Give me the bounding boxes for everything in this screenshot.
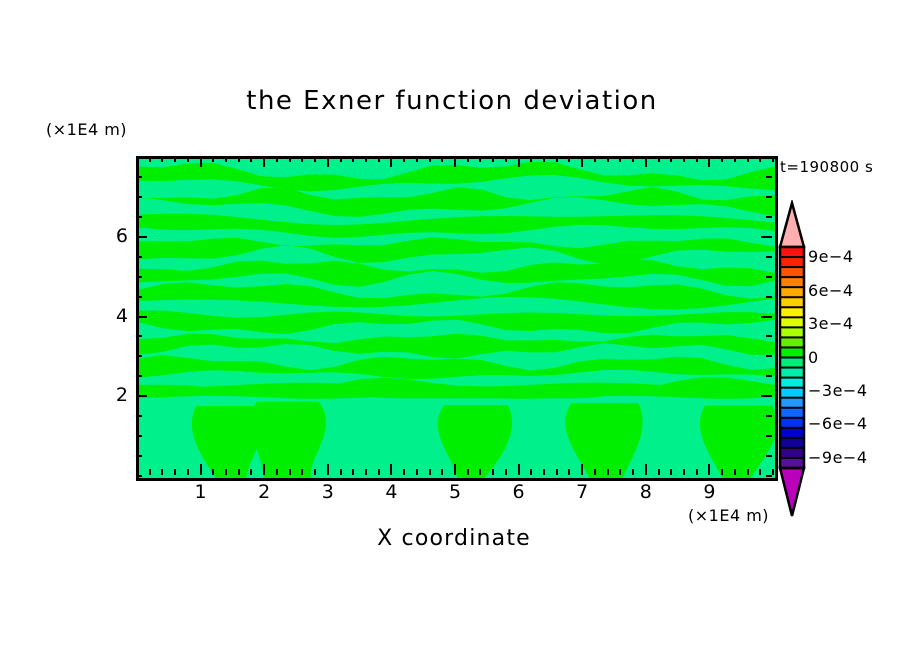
- x-minor-tick-top: [250, 156, 252, 162]
- x-minor-tick-top: [759, 156, 761, 162]
- colorbar-tick-label: −3e−4: [808, 381, 868, 400]
- x-minor-tick: [174, 469, 176, 475]
- y-minor-tick-right: [766, 156, 772, 158]
- x-minor-tick: [276, 469, 278, 475]
- x-minor-tick-top: [403, 156, 405, 162]
- x-minor-tick: [759, 469, 761, 475]
- x-minor-tick: [696, 469, 698, 475]
- y-minor-tick: [136, 296, 142, 298]
- x-minor-tick: [619, 469, 621, 475]
- x-minor-tick: [314, 469, 316, 475]
- x-minor-tick-top: [505, 156, 507, 162]
- x-minor-tick-top: [238, 156, 240, 162]
- x-minor-tick: [365, 469, 367, 475]
- x-minor-tick: [721, 469, 723, 475]
- y-minor-tick: [136, 355, 142, 357]
- x-minor-tick: [378, 469, 380, 475]
- x-minor-tick: [734, 469, 736, 475]
- x-major-tick: [454, 464, 456, 475]
- x-minor-tick-top: [212, 156, 214, 162]
- x-minor-tick: [238, 469, 240, 475]
- x-major-tick: [581, 464, 583, 475]
- x-minor-tick-top: [289, 156, 291, 162]
- x-minor-tick: [352, 469, 354, 475]
- colorbar-tick-label: 6e−4: [808, 281, 854, 300]
- y-minor-tick: [136, 156, 142, 158]
- y-minor-tick: [136, 256, 142, 258]
- x-minor-tick: [250, 469, 252, 475]
- x-major-tick: [390, 464, 392, 475]
- x-major-tick-top: [263, 156, 265, 167]
- x-minor-tick-top: [543, 156, 545, 162]
- x-minor-tick-top: [314, 156, 316, 162]
- colorbar-tick-label: −9e−4: [808, 448, 868, 467]
- x-major-tick-top: [645, 156, 647, 167]
- colorbar-tick-label: −6e−4: [808, 414, 868, 433]
- x-major-tick-top: [708, 156, 710, 167]
- x-minor-tick-top: [378, 156, 380, 162]
- x-minor-tick: [492, 469, 494, 475]
- x-minor-tick-top: [492, 156, 494, 162]
- x-minor-tick-top: [276, 156, 278, 162]
- page-title: the Exner function deviation: [0, 86, 904, 116]
- x-minor-tick-top: [683, 156, 685, 162]
- x-minor-tick-top: [670, 156, 672, 162]
- y-major-tick: [136, 316, 147, 318]
- x-axis-tick-label: 9: [694, 481, 724, 503]
- x-axis-tick-label: 7: [567, 481, 597, 503]
- y-axis-tick-label: 6: [102, 225, 128, 247]
- x-axis-tick-label: 5: [440, 481, 470, 503]
- x-major-tick: [263, 464, 265, 475]
- y-minor-tick: [136, 276, 142, 278]
- y-minor-tick: [136, 475, 142, 477]
- x-minor-tick: [568, 469, 570, 475]
- x-major-tick: [518, 464, 520, 475]
- x-minor-tick: [467, 469, 469, 475]
- x-major-tick-top: [327, 156, 329, 167]
- x-minor-tick: [441, 469, 443, 475]
- x-minor-tick: [556, 469, 558, 475]
- contour-field: [139, 159, 775, 478]
- y-minor-tick: [136, 335, 142, 337]
- y-minor-tick: [136, 435, 142, 437]
- x-minor-tick: [187, 469, 189, 475]
- x-minor-tick: [479, 469, 481, 475]
- x-minor-tick: [340, 469, 342, 475]
- x-axis-tick-label: 3: [313, 481, 343, 503]
- x-minor-tick-top: [301, 156, 303, 162]
- x-minor-tick-top: [161, 156, 163, 162]
- x-minor-tick: [416, 469, 418, 475]
- x-minor-tick-top: [619, 156, 621, 162]
- x-minor-tick: [747, 469, 749, 475]
- x-minor-tick: [658, 469, 660, 475]
- x-minor-tick: [505, 469, 507, 475]
- x-major-tick-top: [581, 156, 583, 167]
- y-minor-tick: [136, 176, 142, 178]
- z-axis-unit-label: (×1E4 m): [46, 120, 127, 139]
- x-axis-unit-label: (×1E4 m): [688, 506, 769, 525]
- x-minor-tick-top: [607, 156, 609, 162]
- x-minor-tick-top: [479, 156, 481, 162]
- colorbar-tick-label: 3e−4: [808, 314, 854, 333]
- y-axis-tick-label: 2: [102, 384, 128, 406]
- x-minor-tick-top: [340, 156, 342, 162]
- x-major-tick-top: [200, 156, 202, 167]
- x-minor-tick-top: [352, 156, 354, 162]
- x-minor-tick-top: [772, 156, 774, 162]
- x-minor-tick: [212, 469, 214, 475]
- x-minor-tick-top: [429, 156, 431, 162]
- x-minor-tick: [632, 469, 634, 475]
- x-minor-tick-top: [365, 156, 367, 162]
- x-minor-tick: [543, 469, 545, 475]
- x-minor-tick: [670, 469, 672, 475]
- x-minor-tick-top: [530, 156, 532, 162]
- x-minor-tick: [149, 469, 151, 475]
- x-major-tick: [645, 464, 647, 475]
- x-minor-tick: [161, 469, 163, 475]
- x-axis-tick-label: 6: [504, 481, 534, 503]
- x-minor-tick-top: [416, 156, 418, 162]
- x-minor-tick-top: [632, 156, 634, 162]
- x-minor-tick-top: [225, 156, 227, 162]
- x-minor-tick-top: [696, 156, 698, 162]
- x-major-tick: [708, 464, 710, 475]
- x-minor-tick: [683, 469, 685, 475]
- colorbar-tick-label: 0: [808, 348, 819, 367]
- x-major-tick-top: [518, 156, 520, 167]
- x-minor-tick-top: [174, 156, 176, 162]
- x-minor-tick-top: [441, 156, 443, 162]
- y-minor-tick: [136, 375, 142, 377]
- x-axis-title: X coordinate: [136, 526, 772, 551]
- y-minor-tick: [136, 415, 142, 417]
- x-minor-tick-top: [734, 156, 736, 162]
- x-minor-tick-top: [721, 156, 723, 162]
- y-minor-tick: [136, 196, 142, 198]
- y-minor-tick: [136, 216, 142, 218]
- x-minor-tick: [429, 469, 431, 475]
- contour-plot-area[interactable]: [136, 156, 778, 481]
- x-major-tick: [327, 464, 329, 475]
- x-minor-tick: [289, 469, 291, 475]
- x-minor-tick-top: [568, 156, 570, 162]
- y-minor-tick: [136, 455, 142, 457]
- x-minor-tick-top: [187, 156, 189, 162]
- x-axis-tick-label: 2: [249, 481, 279, 503]
- x-axis-tick-label: 8: [631, 481, 661, 503]
- x-minor-tick: [225, 469, 227, 475]
- y-axis-tick-label: 4: [102, 305, 128, 327]
- x-axis-tick-label: 4: [376, 481, 406, 503]
- x-minor-tick: [607, 469, 609, 475]
- y-major-tick: [136, 236, 147, 238]
- x-major-tick: [200, 464, 202, 475]
- x-major-tick-top: [390, 156, 392, 167]
- colorbar[interactable]: 9e−46e−43e−40−3e−4−6e−4−9e−4: [770, 200, 900, 520]
- x-minor-tick-top: [594, 156, 596, 162]
- time-annotation: t=190800 s: [780, 158, 873, 176]
- x-minor-tick: [530, 469, 532, 475]
- colorbar-tick-label: 9e−4: [808, 247, 854, 266]
- y-minor-tick-right: [766, 176, 772, 178]
- x-minor-tick: [594, 469, 596, 475]
- x-minor-tick: [403, 469, 405, 475]
- x-minor-tick-top: [556, 156, 558, 162]
- y-minor-tick-right: [766, 196, 772, 198]
- x-minor-tick-top: [149, 156, 151, 162]
- x-minor-tick: [301, 469, 303, 475]
- x-minor-tick-top: [658, 156, 660, 162]
- x-minor-tick-top: [467, 156, 469, 162]
- y-major-tick: [136, 395, 147, 397]
- x-minor-tick-top: [747, 156, 749, 162]
- x-major-tick-top: [454, 156, 456, 167]
- x-axis-tick-label: 1: [186, 481, 216, 503]
